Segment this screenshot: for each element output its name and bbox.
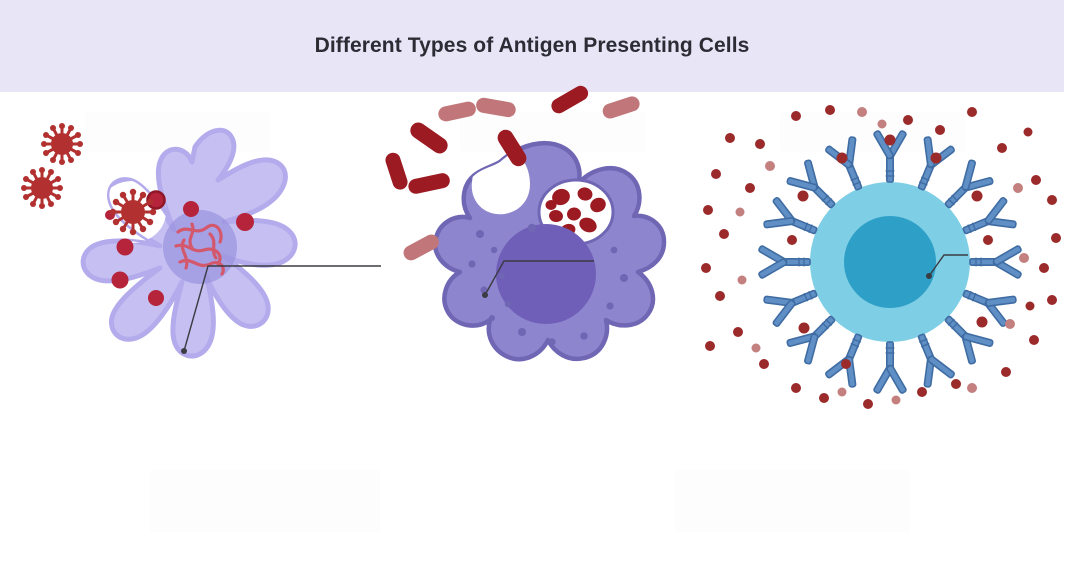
surface-antibody — [970, 245, 1022, 279]
surface-antibody — [762, 278, 823, 329]
virus-particle-group — [21, 123, 156, 235]
virus-particle — [21, 167, 63, 209]
surface-antibody — [873, 342, 907, 394]
b-cell-graphic — [700, 92, 1080, 565]
dendritic-nucleus — [163, 210, 237, 284]
page-title: Different Types of Antigen Presenting Ce… — [0, 0, 1064, 92]
bacterium-dark — [384, 151, 410, 192]
dendritic-cell-panel — [20, 92, 380, 565]
bacterium-light — [437, 100, 477, 123]
bacterium-dark — [407, 119, 451, 156]
surface-antibody — [758, 245, 810, 279]
figure-page: Different Types of Antigen Presenting Ce… — [0, 0, 1080, 565]
bacterium-light — [401, 232, 442, 263]
macrophage-graphic — [380, 92, 720, 565]
bacterium-light — [475, 97, 517, 119]
figure-canvas — [0, 92, 1080, 565]
header-band: Different Types of Antigen Presenting Ce… — [0, 0, 1064, 92]
bacterium-light — [601, 94, 642, 120]
macrophage-nucleus — [496, 224, 596, 324]
virus-particle — [41, 123, 83, 165]
b-cell-nucleus — [844, 216, 936, 308]
dendritic-cell-graphic — [20, 92, 380, 565]
macrophage-panel — [380, 92, 720, 565]
bacterium-dark — [407, 172, 451, 195]
b-cell-panel — [700, 92, 1080, 565]
